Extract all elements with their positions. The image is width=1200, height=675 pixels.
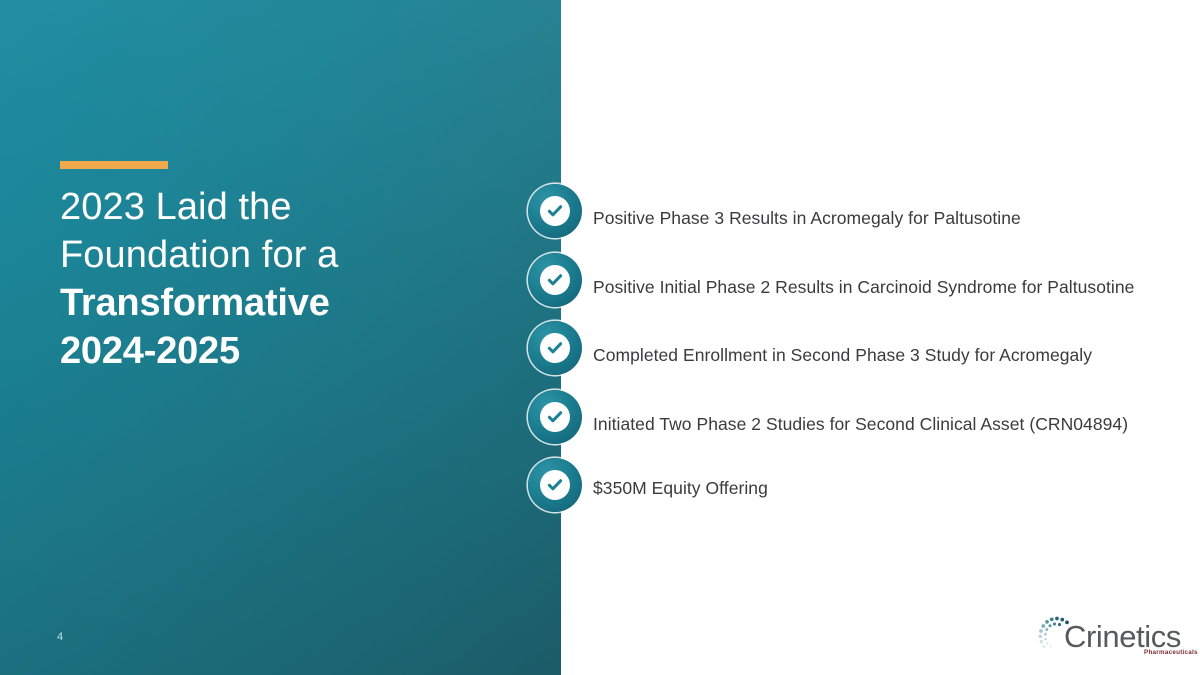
logo-tagline: Pharmaceuticals: [1144, 649, 1198, 656]
list-item: Completed Enrollment in Second Phase 3 S…: [528, 321, 1178, 390]
check-icon-inner: [540, 196, 570, 226]
list-item-label: $350M Equity Offering: [593, 476, 1171, 500]
check-circle-icon: [528, 253, 582, 307]
check-icon-inner: [540, 470, 570, 500]
company-logo: Crinetics Pharmaceuticals: [1032, 611, 1182, 663]
list-item-label: Positive Phase 3 Results in Acromegaly f…: [593, 206, 1171, 230]
title-line-2: Foundation for a: [60, 231, 480, 279]
check-icon-inner: [540, 333, 570, 363]
highlights-list: Positive Phase 3 Results in Acromegaly f…: [528, 184, 1178, 518]
list-item: Positive Phase 3 Results in Acromegaly f…: [528, 184, 1178, 253]
page-title: 2023 Laid the Foundation for a Transform…: [60, 183, 480, 375]
title-line-4: 2024-2025: [60, 327, 480, 375]
page-number: 4: [57, 631, 63, 643]
list-item: $350M Equity Offering: [528, 458, 1178, 518]
check-circle-icon: [528, 458, 582, 512]
list-item: Positive Initial Phase 2 Results in Carc…: [528, 253, 1178, 322]
list-item: Initiated Two Phase 2 Studies for Second…: [528, 390, 1178, 459]
list-item-label: Initiated Two Phase 2 Studies for Second…: [593, 412, 1171, 436]
check-icon-inner: [540, 402, 570, 432]
list-item-label: Positive Initial Phase 2 Results in Carc…: [593, 275, 1171, 299]
check-circle-icon: [528, 321, 582, 375]
check-icon-inner: [540, 265, 570, 295]
list-item-label: Completed Enrollment in Second Phase 3 S…: [593, 343, 1171, 367]
accent-bar: [60, 161, 168, 169]
check-circle-icon: [528, 390, 582, 444]
slide: 2023 Laid the Foundation for a Transform…: [0, 0, 1200, 675]
title-line-1: 2023 Laid the: [60, 183, 480, 231]
title-line-3: Transformative: [60, 279, 480, 327]
check-circle-icon: [528, 184, 582, 238]
